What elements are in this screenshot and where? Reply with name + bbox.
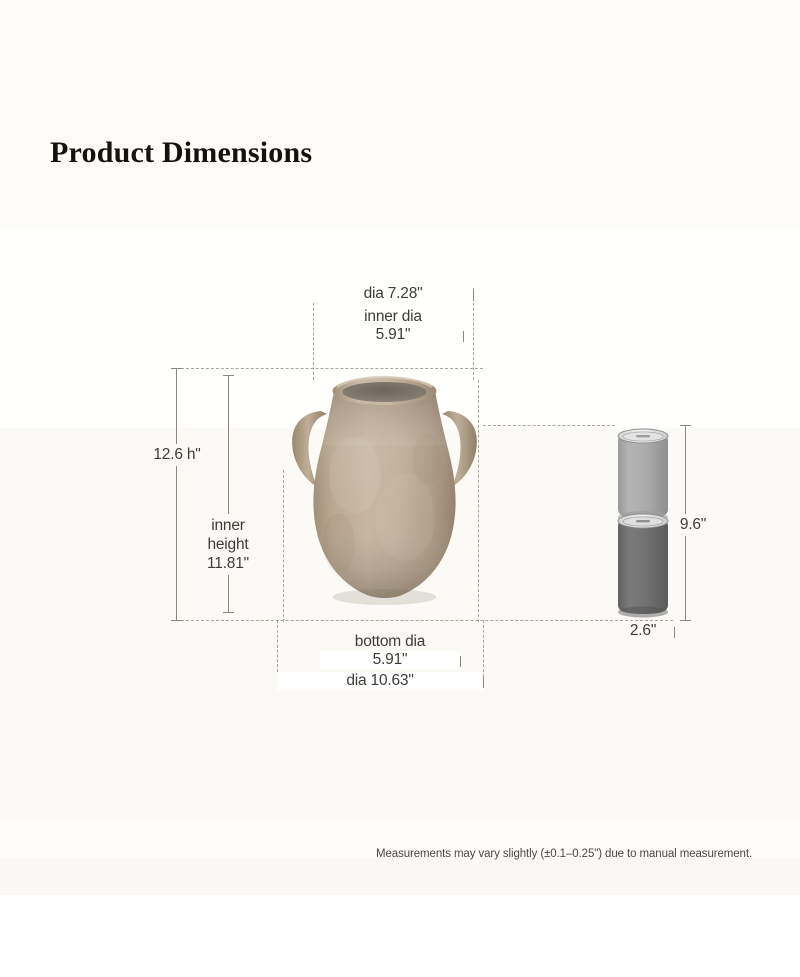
dimension-label-can-width: 2.6" [612, 622, 674, 640]
dimension-label-bottom-inner-value: 5.91" [320, 651, 460, 669]
product-dimensions-diagram: Product Dimensions dia 7.28" inner dia 5… [0, 0, 800, 977]
dimension-cap-height-inner-bottom [223, 612, 234, 613]
dimension-label-height-inner: inner height 11.81" [192, 514, 264, 575]
dimension-label-bottom-inner-title: bottom dia [310, 633, 470, 651]
dimension-label-top-inner-title: inner dia [323, 308, 463, 326]
dimension-label-top-inner-value: 5.91" [323, 326, 463, 344]
vase-illustration [277, 367, 492, 621]
dimension-cap-top-outer-right [473, 290, 474, 301]
dimension-label-height-outer: 12.6 h" [151, 444, 203, 466]
dimension-line-height-outer [176, 368, 177, 620]
dimension-cap-can-width-right [674, 627, 675, 638]
scale-reference-cans [612, 425, 674, 621]
dimension-label-top-outer: dia 7.28" [313, 285, 473, 303]
dimension-label-height-inner-line3: 11.81" [192, 554, 264, 573]
measurement-disclaimer: Measurements may vary slightly (±0.1–0.2… [376, 848, 752, 860]
background-band-bottom [0, 895, 800, 977]
dimension-cap-bottom-inner-right [460, 656, 461, 667]
guide-line-can-top [483, 425, 615, 426]
dimension-cap-top-inner-right [463, 331, 464, 342]
guide-line-right-outer [483, 620, 484, 682]
page-title: Product Dimensions [50, 136, 312, 170]
background-band-top [0, 0, 800, 228]
dimension-cap-height-outer-bottom [171, 620, 182, 621]
dimension-label-can-height: 9.6" [672, 514, 714, 536]
background-band-footnote [0, 858, 800, 895]
dimension-label-bottom-outer: dia 10.63" [277, 672, 483, 690]
dimension-cap-bottom-outer-right [483, 677, 484, 688]
dimension-cap-height-outer-top [171, 368, 182, 369]
dimension-cap-can-height-top [680, 425, 691, 426]
dimension-line-height-inner [228, 375, 229, 612]
dimension-cap-height-inner-top [223, 375, 234, 376]
dimension-label-height-inner-line2: height [192, 535, 264, 554]
dimension-label-height-inner-line1: inner [192, 516, 264, 535]
dimension-cap-can-height-bottom [680, 620, 691, 621]
